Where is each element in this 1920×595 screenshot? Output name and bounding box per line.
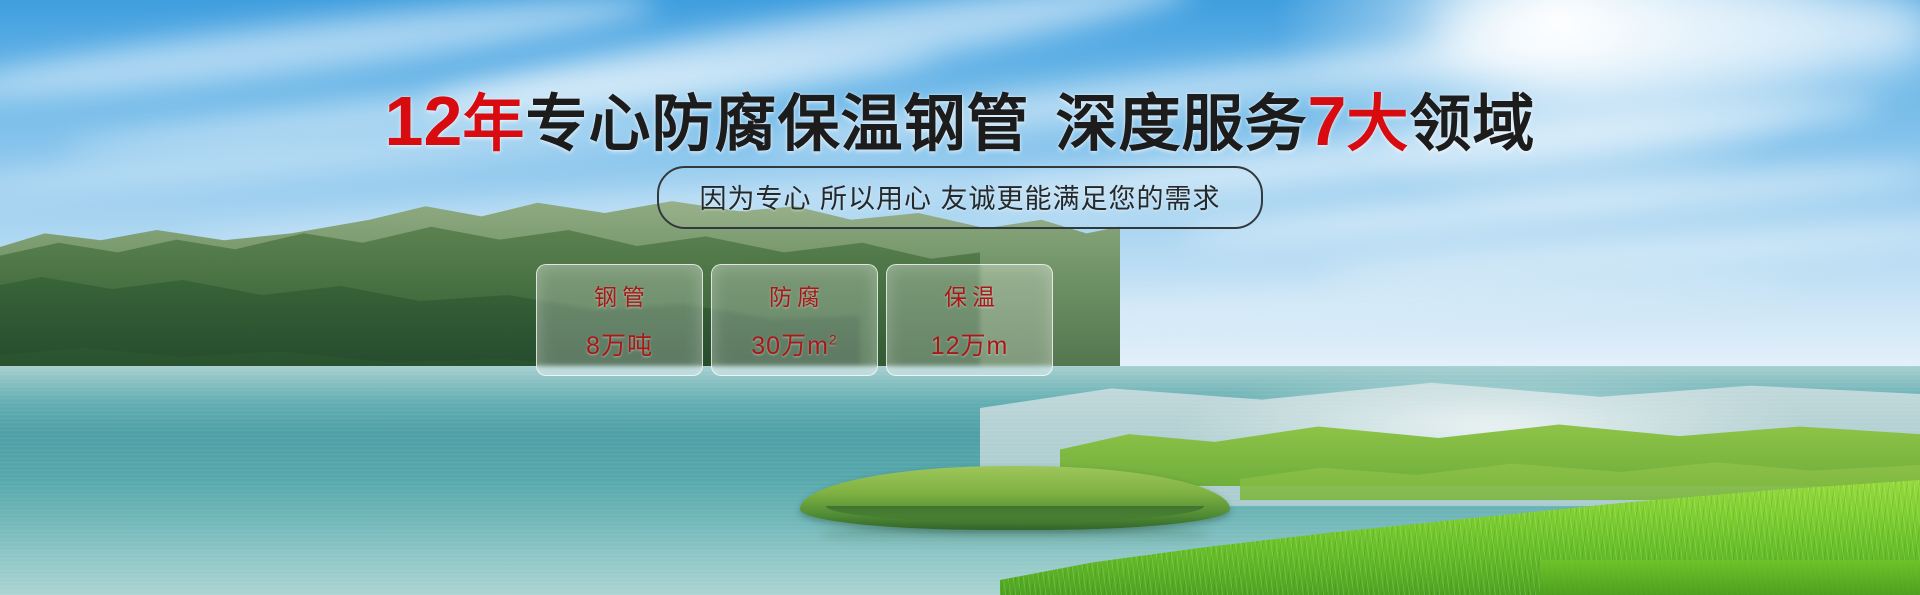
stat-card-label: 保温 [939,278,1000,312]
stat-card-group: 钢管 8万吨 防腐 30万m2 保温 12万m [536,264,1053,376]
headline-service-text: 深度服务 [1055,90,1307,159]
headline: 12年专心防腐保温钢管深度服务7大领域 [0,86,1920,156]
stat-card-value: 30万m2 [751,326,837,362]
stat-card-steel-pipe[interactable]: 钢管 8万吨 [536,264,703,376]
stat-card-value-text: 30万m [751,332,829,360]
stat-card-value: 12万m [931,326,1009,362]
stat-card-value-text: 12万m [931,332,1009,360]
headline-years-unit: 年 [462,90,525,159]
headline-fields-tail: 领域 [1409,90,1535,159]
headline-fields-number: 7 [1307,82,1346,160]
headline-middle-text: 专心防腐保温钢管 [525,90,1029,159]
subtitle-pill: 因为专心 所以用心 友诚更能满足您的需求 [657,166,1262,229]
headline-fields-unit: 大 [1346,90,1409,159]
headline-years-number: 12 [385,82,463,160]
stat-card-label: 钢管 [589,278,650,312]
stat-card-insulation[interactable]: 保温 12万m [886,264,1053,376]
stat-card-value-superscript: 2 [829,332,838,348]
stat-card-value: 8万吨 [586,326,653,362]
stat-card-value-text: 8万吨 [586,332,653,360]
subtitle-container: 因为专心 所以用心 友诚更能满足您的需求 [0,166,1920,229]
stat-card-anticorrosion[interactable]: 防腐 30万m2 [711,264,878,376]
promo-banner: 12年专心防腐保温钢管深度服务7大领域 因为专心 所以用心 友诚更能满足您的需求… [0,0,1920,595]
foreground-grass-strip [1540,560,1920,595]
stat-card-label: 防腐 [764,278,825,312]
